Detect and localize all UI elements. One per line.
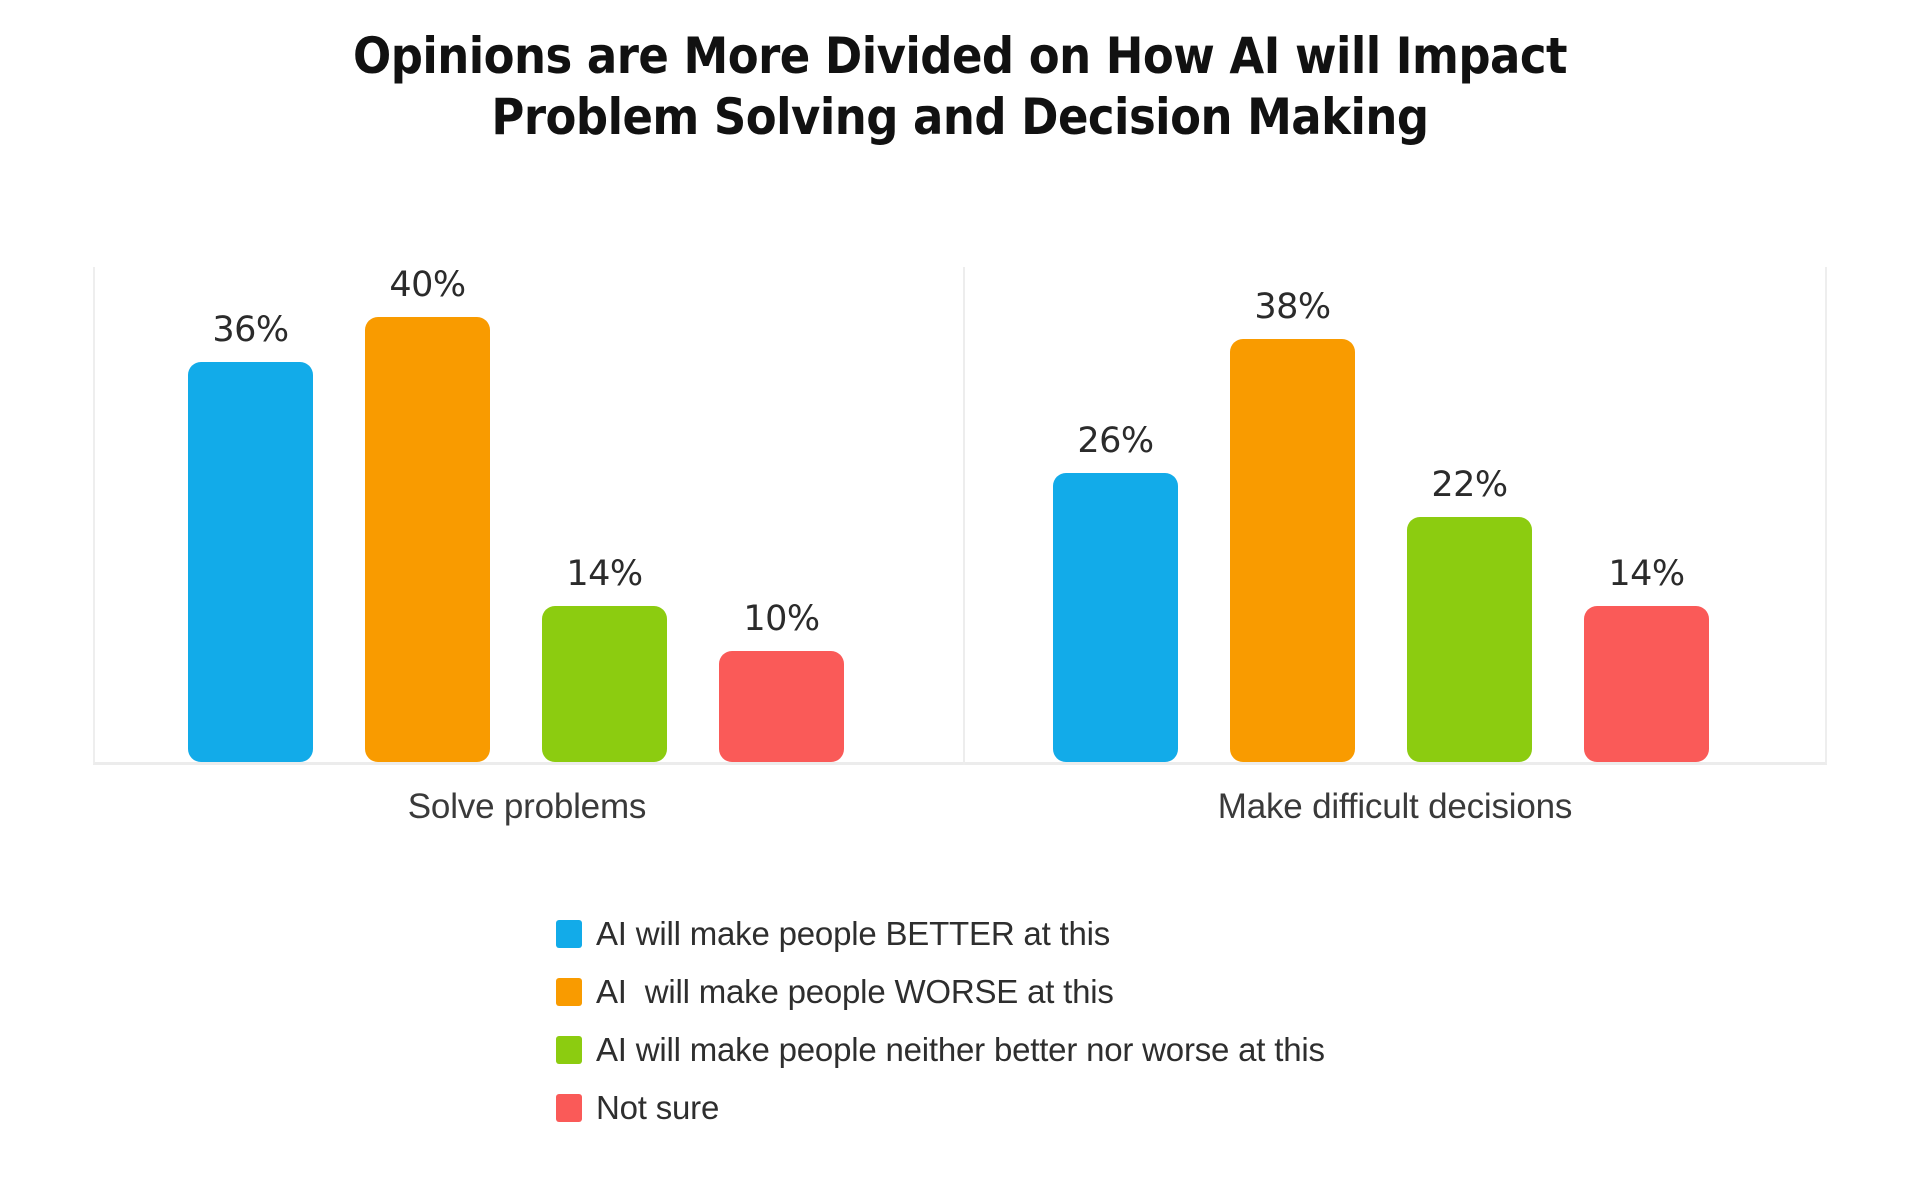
bar[interactable]: [719, 651, 844, 762]
bar-slot: 14%: [1584, 267, 1709, 762]
legend-item[interactable]: Not sure: [556, 1079, 1456, 1137]
legend-swatch-worse: [556, 978, 582, 1006]
chart-legend: AI will make people BETTER at thisAI wil…: [556, 905, 1456, 1137]
bar-slot: 40%: [365, 267, 490, 762]
bar-value-label: 10%: [743, 599, 819, 639]
legend-item-label: AI will make people WORSE at this: [596, 973, 1114, 1011]
chart-panel-make-difficult-decisions: 26%38%22%14%: [965, 267, 1827, 762]
bar-value-label: 40%: [389, 265, 465, 305]
bar-slot: 36%: [188, 267, 313, 762]
legend-item[interactable]: AI will make people neither better nor w…: [556, 1021, 1456, 1079]
chart-panel-solve-problems: 36%40%14%10%: [95, 267, 963, 762]
page-title: Opinions are More Divided on How AI will…: [96, 26, 1824, 148]
x-axis-label-solve-problems: Solve problems: [93, 787, 961, 827]
bar-value-label: 14%: [1608, 554, 1684, 594]
x-axis-label-make-difficult-decisions: Make difficult decisions: [963, 787, 1827, 827]
bar[interactable]: [542, 606, 667, 762]
legend-item[interactable]: AI will make people BETTER at this: [556, 905, 1456, 963]
bar-value-label: 22%: [1431, 465, 1507, 505]
bar-slot: 10%: [719, 267, 844, 762]
bar[interactable]: [1584, 606, 1709, 762]
legend-swatch-notsure: [556, 1094, 582, 1122]
bar-value-label: 36%: [212, 310, 288, 350]
bar-slot: 22%: [1407, 267, 1532, 762]
bar-slot: 26%: [1053, 267, 1178, 762]
page-title-line-2: Problem Solving and Decision Making: [96, 87, 1824, 148]
bar-group-make-difficult-decisions: 26%38%22%14%: [965, 267, 1827, 762]
bar-value-label: 26%: [1077, 421, 1153, 461]
legend-item[interactable]: AI will make people WORSE at this: [556, 963, 1456, 1021]
bar[interactable]: [1407, 517, 1532, 762]
bar-slot: 38%: [1230, 267, 1355, 762]
bar[interactable]: [1230, 339, 1355, 762]
page-title-line-1: Opinions are More Divided on How AI will…: [96, 26, 1824, 87]
bar-value-label: 38%: [1254, 287, 1330, 327]
legend-swatch-better: [556, 920, 582, 948]
bar-group-solve-problems: 36%40%14%10%: [95, 267, 963, 762]
legend-item-label: AI will make people neither better nor w…: [596, 1031, 1325, 1069]
bar[interactable]: [1053, 473, 1178, 762]
bar-value-label: 14%: [566, 554, 642, 594]
bar[interactable]: [365, 317, 490, 762]
legend-item-label: AI will make people BETTER at this: [596, 915, 1110, 953]
bar[interactable]: [188, 362, 313, 762]
chart-plot-area: 36%40%14%10% 26%38%22%14%: [93, 267, 1827, 765]
legend-item-label: Not sure: [596, 1089, 719, 1127]
legend-swatch-neither: [556, 1036, 582, 1064]
bar-slot: 14%: [542, 267, 667, 762]
